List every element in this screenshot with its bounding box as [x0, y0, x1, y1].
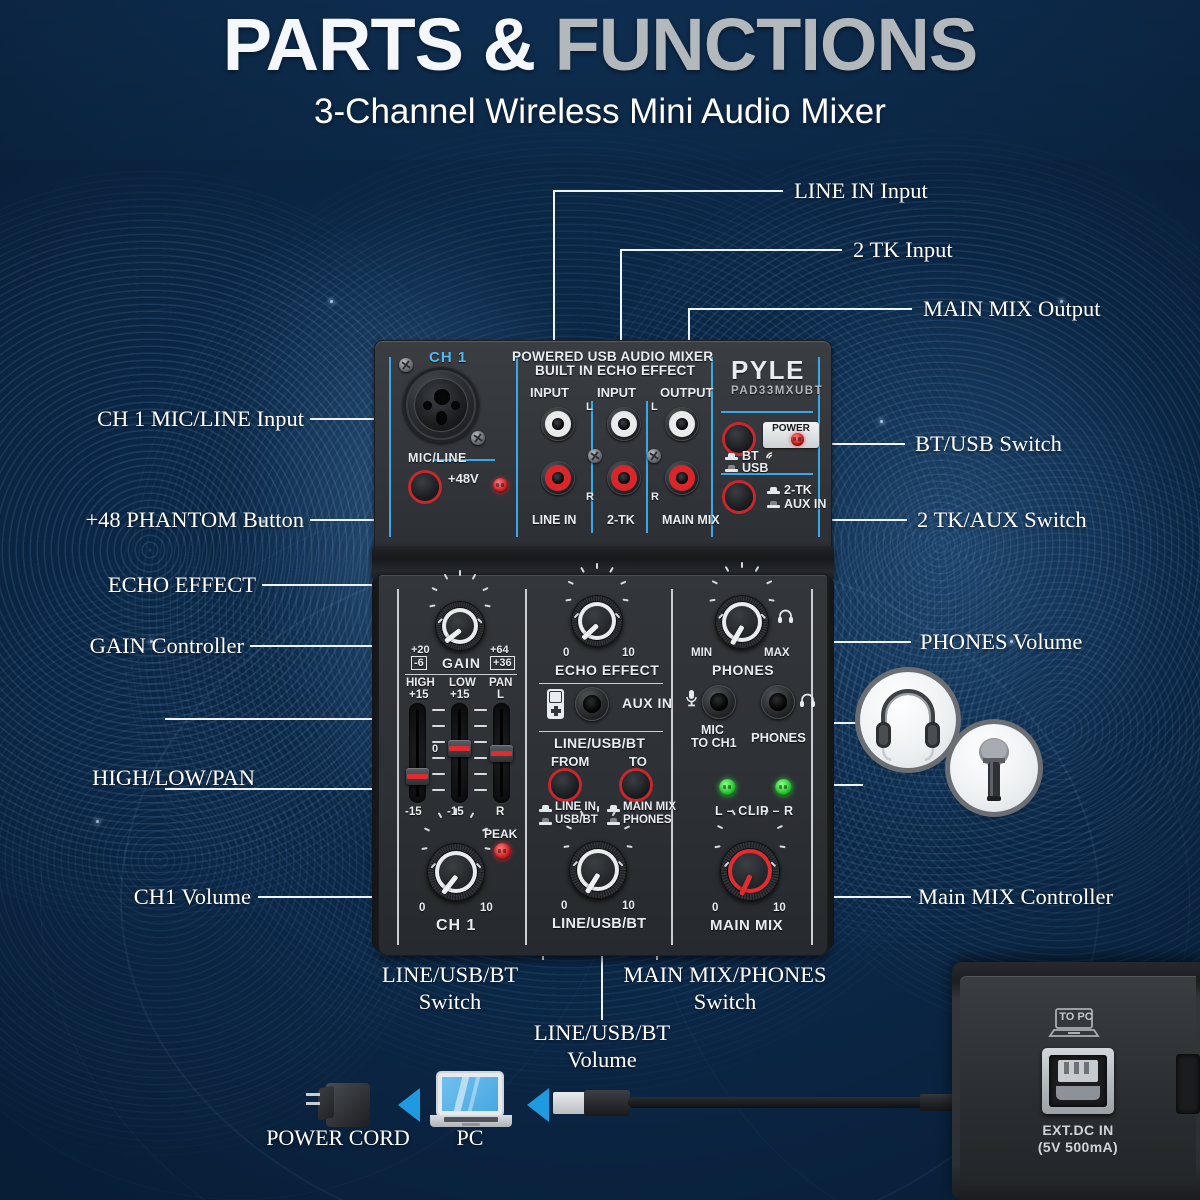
phantom-led-icon: [493, 478, 508, 493]
callout-line-usb-bt-volume-line2: Volume: [492, 1047, 712, 1074]
gain-scale-plus64: +64: [490, 644, 509, 656]
mixer-top-panel: CH 1 MIC/LINE +48V POWERED USB AUDIO MIX…: [374, 340, 832, 552]
jack-group-label-line-in: LINE IN: [532, 513, 576, 527]
callout-line-usb-bt-switch-line1: LINE/USB/BT: [340, 962, 560, 989]
microphone-icon: [685, 689, 697, 707]
lr-label-r: R: [651, 491, 659, 503]
fader-high-label: HIGH: [406, 677, 435, 689]
ch1-knob-min: 0: [419, 902, 425, 914]
callout-high-low-pan: HIGH/LOW/PAN: [55, 765, 255, 792]
phones-jack-label: PHONES: [751, 730, 806, 745]
aux-in-switch-label: AUX IN: [784, 497, 826, 511]
headphones-photo-badge: [860, 672, 956, 768]
fader-low-label: LOW: [449, 677, 476, 689]
power-badge: POWER: [763, 422, 819, 448]
callout-main-mix-phones-switch: MAIN MIX/PHONES Switch: [560, 962, 890, 1015]
ch1-label: CH 1: [429, 349, 467, 366]
xlr-screw-icon: [471, 431, 485, 445]
leader-line-main-mix-out: [688, 308, 912, 310]
model-number: PAD33MXUBT: [731, 385, 823, 397]
to-option-main-mix: MAIN MIX: [623, 801, 676, 813]
panel-divider-cyan: [721, 411, 813, 413]
switch-position-down-icon: [539, 818, 552, 825]
line-usb-bt-to-switch[interactable]: [622, 771, 650, 799]
mixer-headline-line-1: POWERED USB AUDIO MIXER: [512, 349, 713, 364]
bluetooth-wifi-icon: [765, 449, 777, 460]
echo-effect-label: ECHO EFFECT: [555, 662, 659, 678]
phones-knob-ticks: [715, 595, 769, 649]
section-divider: [811, 589, 813, 945]
fader-low-plus15: +15: [450, 689, 470, 701]
main-mix-knob-min: 0: [712, 902, 718, 914]
high-fader-slot: [409, 703, 426, 803]
xlr-screw-icon: [399, 358, 413, 372]
callout-main-mix-phones-switch-line1: MAIN MIX/PHONES: [560, 962, 890, 989]
pc-laptop-illustration: [430, 1073, 512, 1131]
callout-ch1-volume: CH1 Volume: [65, 884, 251, 911]
page-header: PARTS & FUNCTIONS 3-Channel Wireless Min…: [0, 8, 1200, 132]
switch-position-down-icon: [767, 501, 780, 508]
peak-label: PEAK: [484, 827, 517, 841]
page-title: PARTS & FUNCTIONS: [0, 8, 1200, 82]
fader-high-plus15: +15: [409, 689, 429, 701]
callout-line-usb-bt-volume: LINE/USB/BT Volume: [492, 1020, 712, 1073]
rca-jack-main-mix-left[interactable]: [665, 407, 699, 441]
phones-output-jack[interactable]: [761, 685, 795, 719]
callout-ch1-mic-line-input: CH 1 MIC/LINE Input: [40, 406, 304, 433]
rca-jack-main-mix-right[interactable]: [665, 461, 699, 495]
lr-label-r: R: [586, 491, 594, 503]
fader-pan-r: R: [496, 806, 504, 818]
clip-led-left-icon: [719, 779, 736, 796]
arrow-left-to-power-cord: [398, 1088, 420, 1122]
main-mix-knob-label: MAIN MIX: [710, 917, 783, 934]
headphone-icon: [799, 692, 816, 707]
clip-label: L – CLIP – R: [715, 804, 793, 818]
line-usb-bt-title: LINE/USB/BT: [554, 735, 645, 751]
callout-bt-usb-switch: BT/USB Switch: [915, 431, 1062, 458]
panel-divider-cyan: [516, 357, 518, 537]
rca-jack-2tk-left[interactable]: [607, 407, 641, 441]
usb-switch-label: USB: [742, 461, 768, 475]
line-usb-bt-from-switch[interactable]: [551, 771, 579, 799]
leader-line-2tk: [620, 249, 842, 251]
microphone-icon: [950, 724, 1038, 812]
echo-knob-ticks: [571, 595, 623, 647]
arrow-left-to-pc: [527, 1088, 549, 1122]
phones-knob-min: MIN: [691, 647, 712, 659]
panel-divider-cyan: [711, 357, 713, 537]
panel-screw-icon: [588, 449, 602, 463]
ch1-knob-label: CH 1: [436, 917, 476, 935]
callout-2tk-input: 2 TK Input: [853, 237, 953, 264]
switch-position-down-icon: [725, 465, 738, 472]
line-usb-bt-knob-ticks: [569, 841, 627, 899]
callout-pc: PC: [422, 1125, 518, 1151]
2tk-switch-label: 2-TK: [784, 483, 812, 497]
callout-gain-controller: GAIN Controller: [40, 633, 244, 660]
switch-position-up-icon: [767, 487, 780, 494]
lr-label-l: L: [586, 401, 593, 413]
rear-panel-secondary-port[interactable]: [1176, 1054, 1200, 1114]
callout-main-mix-phones-switch-line2: Switch: [560, 989, 890, 1016]
panel-divider-cyan: [389, 357, 391, 537]
mixer-headline-line-2: BUILT IN ECHO EFFECT: [535, 363, 695, 378]
mic-to-ch1-label-line2: TO CH1: [691, 736, 737, 750]
callout-main-mix-controller: Main MIX Controller: [918, 884, 1113, 911]
section-rule: [539, 731, 663, 732]
ch1-combo-xlr-jack[interactable]: [403, 367, 479, 443]
section-rule: [539, 683, 663, 684]
mic-line-label: MIC/LINE: [408, 451, 467, 465]
callout-line-usb-bt-switch-line2: Switch: [340, 989, 560, 1016]
fader-pan-l: L: [497, 689, 504, 701]
gain-scale-plus20: +20: [411, 644, 430, 656]
gain-scale-plus36: +36: [490, 656, 515, 670]
2tk-aux-switch-button[interactable]: [725, 483, 753, 511]
gain-knob-label: GAIN: [442, 655, 481, 671]
switch-position-up-icon: [539, 805, 552, 812]
input-label-2tk: INPUT: [597, 385, 636, 400]
ch1-knob-ticks: [427, 843, 485, 901]
section-divider: [671, 589, 673, 945]
section-rule: [405, 674, 517, 675]
panel-divider-cyan: [591, 401, 593, 533]
headphones-icon: [860, 672, 956, 768]
switch-position-down-icon: [607, 818, 620, 825]
section-divider: [397, 589, 399, 945]
leader-line-2tk: [620, 249, 622, 350]
mixer-control-panel: +20 -6 +64 +36 GAIN HIGH +15 LOW +15 PAN…: [378, 574, 828, 956]
ext-dc-in-label-line1: EXT.DC IN: [988, 1122, 1168, 1138]
fader-high-minus15: -15: [405, 806, 422, 818]
switch-position-up-icon: [725, 453, 738, 460]
to-option-phones: PHONES: [623, 814, 672, 826]
input-label-line-in: INPUT: [530, 385, 569, 400]
low-fader-handle[interactable]: [448, 740, 471, 757]
leader-line-line-in: [553, 190, 783, 192]
callout-echo-effect: ECHO EFFECT: [60, 572, 256, 599]
callout-main-mix-output: MAIN MIX Output: [923, 296, 1101, 323]
callout-line-in-input: LINE IN Input: [794, 178, 928, 205]
headphone-icon: [777, 608, 794, 623]
callout-line-usb-bt-switch: LINE/USB/BT Switch: [340, 962, 560, 1015]
usb-connector-icon: [553, 1092, 587, 1114]
callout-2tk-aux-switch: 2 TK/AUX Switch: [917, 507, 1087, 534]
lr-label-l: L: [651, 401, 658, 413]
usb-b-port[interactable]: [1042, 1048, 1114, 1114]
rca-jack-line-in-right[interactable]: [541, 461, 575, 495]
echo-knob-min: 0: [563, 647, 569, 659]
fader-mid-zero-label: 0: [432, 743, 438, 755]
pan-fader-handle[interactable]: [490, 745, 513, 762]
section-divider: [525, 589, 527, 945]
phantom-power-button[interactable]: [411, 473, 439, 501]
ext-dc-in-label-line2: (5V 500mA): [988, 1139, 1168, 1155]
rca-jack-line-in-left[interactable]: [541, 407, 575, 441]
aux-in-label: AUX IN: [622, 695, 672, 711]
usb-cable: [628, 1097, 928, 1108]
jack-group-label-2tk: 2-TK: [607, 513, 635, 527]
peak-led-icon: [494, 843, 511, 860]
output-label-main-mix: OUTPUT: [660, 385, 713, 400]
high-fader-handle[interactable]: [406, 768, 429, 785]
callout-phones-volume: PHONES Volume: [920, 629, 1082, 656]
rear-panel-illustration: TO PC EXT.DC IN (5V 500mA): [952, 962, 1200, 1200]
aux-plus-badge-icon: [547, 689, 564, 719]
aux-in-jack[interactable]: [575, 687, 609, 721]
infographic-canvas: PARTS & FUNCTIONS 3-Channel Wireless Min…: [0, 0, 1200, 1200]
usb-connector-shell: [584, 1090, 630, 1116]
from-label: FROM: [551, 754, 589, 769]
from-option-usb-bt: USB/BT: [555, 814, 598, 826]
jack-group-label-main-mix: MAIN MIX: [662, 513, 720, 527]
from-option-line-in: LINE IN: [555, 801, 596, 813]
phones-knob-label: PHONES: [712, 662, 774, 678]
rca-jack-2tk-right[interactable]: [607, 461, 641, 495]
power-badge-label: POWER: [763, 423, 819, 434]
leader-line-line-in: [553, 190, 555, 350]
power-adapter-illustration: [306, 1079, 370, 1127]
phantom-48v-label: +48V: [448, 471, 479, 486]
main-mix-knob-max: 10: [773, 902, 786, 914]
callout-line-usb-bt-volume-line1: LINE/USB/BT: [492, 1020, 712, 1047]
echo-knob-max: 10: [622, 647, 635, 659]
audio-mixer-device: CH 1 MIC/LINE +48V POWERED USB AUDIO MIX…: [372, 340, 834, 956]
callout-phantom-button: +48 PHANTOM Button: [30, 507, 304, 534]
panel-divider-cyan: [646, 401, 648, 533]
to-pc-label: TO PC: [1056, 1010, 1096, 1024]
fader-pan-label: PAN: [489, 677, 512, 689]
page-title-part-1: PARTS &: [223, 3, 535, 86]
line-usb-bt-knob-label: LINE/USB/BT: [552, 916, 646, 932]
gain-knob-ticks: [435, 601, 485, 651]
phones-knob-max: MAX: [764, 647, 790, 659]
line-usb-bt-knob-max: 10: [622, 900, 635, 912]
clip-led-right-icon: [775, 779, 792, 796]
ch1-knob-max: 10: [480, 902, 493, 914]
mic-to-ch1-label-line1: MIC: [701, 723, 724, 737]
line-usb-bt-knob-min: 0: [561, 900, 567, 912]
page-subtitle: 3-Channel Wireless Mini Audio Mixer: [0, 92, 1200, 132]
to-label: TO: [629, 754, 647, 769]
power-led-icon: [791, 433, 804, 446]
microphone-photo-badge: [950, 724, 1038, 812]
brand-logo: PYLE: [731, 355, 805, 386]
callout-power-cord: POWER CORD: [240, 1125, 436, 1151]
mic-to-ch1-jack[interactable]: [702, 685, 736, 719]
pan-fader-scale: [473, 703, 489, 803]
main-mix-knob-ticks: [720, 841, 780, 901]
panel-screw-icon: [647, 449, 661, 463]
page-title-part-2: FUNCTIONS: [555, 3, 978, 86]
gain-scale-minus6: -6: [411, 656, 427, 670]
